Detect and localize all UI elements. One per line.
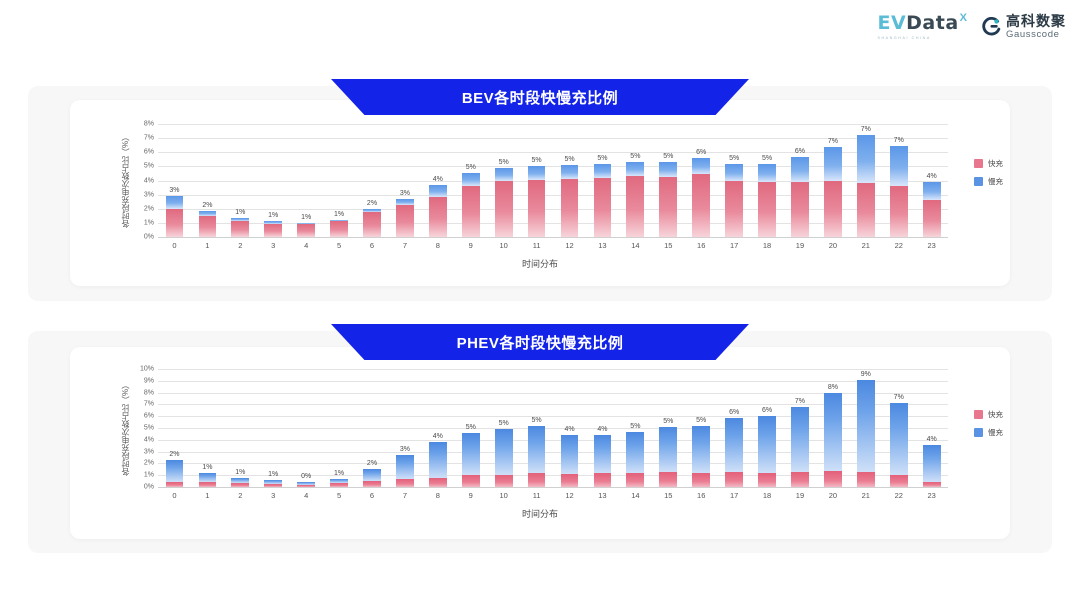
y-axis-tick: 7% [144,401,154,408]
x-axis-tick: 11 [520,241,553,250]
x-axis-tick: 23 [915,241,948,250]
x-axis-tick: 16 [685,241,718,250]
bar-data-label: 5% [696,417,706,424]
bar-segment-slow-charge [528,166,546,179]
bar-segment-slow-charge [758,416,776,473]
bar-segment-fast-charge [264,224,282,237]
bar-segment-fast-charge [495,181,513,237]
bar-data-label: 7% [861,126,871,133]
bar-segment-slow-charge [166,460,184,481]
y-axis-tick: 0% [144,484,154,491]
bar-data-label: 1% [202,464,212,471]
bar-column[interactable]: 8% [816,369,849,487]
bar-data-label: 5% [663,153,673,160]
stacked-bar[interactable]: 6% [758,416,776,487]
bar-column[interactable]: 1% [224,369,257,487]
x-axis-tick: 15 [652,491,685,500]
x-axis-tick: 1 [191,491,224,500]
bev-card: 各时段充电次数占比（%）0%1%2%3%4%5%6%7%8%3%2%1%1%1%… [70,100,1010,286]
x-axis-tick: 19 [784,241,817,250]
stacked-bar[interactable]: 7% [890,146,908,237]
stacked-bar[interactable]: 5% [495,168,513,237]
bar-column[interactable]: 4% [586,369,619,487]
x-axis-line [158,487,948,488]
x-axis-tick: 14 [619,241,652,250]
x-axis-tick: 18 [751,241,784,250]
bar-segment-slow-charge [890,146,908,186]
stacked-bar[interactable]: 6% [725,418,743,487]
bar-segment-fast-charge [396,479,414,487]
bar-segment-slow-charge [363,469,381,481]
stacked-bar[interactable]: 2% [363,209,381,237]
x-axis-tick: 16 [685,491,718,500]
bar-data-label: 1% [334,470,344,477]
y-axis-tick: 2% [144,205,154,212]
legend-item[interactable]: 慢充 [974,427,1003,438]
bar-column[interactable]: 5% [652,369,685,487]
bar-data-label: 7% [828,138,838,145]
bar-column[interactable]: 1% [290,124,323,237]
bar-column[interactable]: 3% [388,369,421,487]
stacked-bar[interactable]: 1% [231,218,249,237]
bar-segment-slow-charge [626,432,644,473]
bar-segment-fast-charge [429,478,447,487]
bar-column[interactable]: 1% [323,369,356,487]
x-axis-tick: 20 [816,491,849,500]
stacked-bar[interactable]: 7% [824,147,842,237]
legend-swatch [974,177,983,186]
bar-data-label: 6% [729,409,739,416]
bar-data-label: 6% [762,407,772,414]
bar-segment-fast-charge [166,209,184,237]
x-axis-tick: 1 [191,241,224,250]
stacked-bar[interactable]: 5% [659,162,677,237]
bar-segment-slow-charge [594,435,612,474]
x-axis-tick: 2 [224,491,257,500]
bar-segment-slow-charge [626,162,644,176]
x-axis-tick: 12 [553,491,586,500]
bar-data-label: 5% [729,155,739,162]
x-axis-tick: 21 [849,491,882,500]
legend-label: 慢充 [988,427,1003,438]
bar-data-label: 0% [301,473,311,480]
bar-segment-fast-charge [429,197,447,237]
stacked-bar[interactable]: 2% [166,460,184,487]
bar-segment-slow-charge [199,473,217,482]
stacked-bar[interactable]: 6% [692,158,710,237]
bar-column[interactable]: 3% [388,124,421,237]
bar-segment-slow-charge [692,426,710,473]
y-axis-tick: 3% [144,191,154,198]
stacked-bar[interactable]: 5% [758,164,776,237]
stacked-bar[interactable]: 4% [429,185,447,237]
bar-data-label: 8% [828,384,838,391]
bar-data-label: 5% [762,155,772,162]
bar-data-label: 2% [169,451,179,458]
bar-segment-fast-charge [758,473,776,487]
stacked-bar[interactable]: 5% [594,164,612,237]
bar-segment-fast-charge [561,474,579,487]
stacked-bar[interactable]: 1% [264,480,282,487]
bar-data-label: 4% [433,176,443,183]
bar-segment-fast-charge [626,473,644,487]
bar-column[interactable]: 2% [356,369,389,487]
stacked-bar[interactable]: 5% [725,164,743,237]
x-axis-tick: 12 [553,241,586,250]
bar-data-label: 5% [499,159,509,166]
bar-data-label: 1% [334,211,344,218]
bar-segment-fast-charge [857,183,875,237]
bar-column[interactable]: 7% [784,369,817,487]
bar-column[interactable]: 1% [323,124,356,237]
stacked-bar[interactable]: 4% [561,435,579,487]
x-axis-tick: 22 [882,241,915,250]
x-axis-tick: 10 [487,491,520,500]
x-axis-tick: 15 [652,241,685,250]
bar-segment-fast-charge [396,205,414,237]
bar-data-label: 5% [663,418,673,425]
bar-segment-slow-charge [857,380,875,472]
stacked-bar[interactable]: 4% [429,442,447,487]
bar-column[interactable]: 1% [224,124,257,237]
x-axis-tick: 6 [356,241,389,250]
bar-column[interactable]: 6% [685,124,718,237]
legend-label: 慢充 [988,176,1003,187]
x-axis-tick: 5 [323,491,356,500]
slide-page: EVData X SHANGHAI CHINA 高科数聚 Gausscode B… [0,0,1080,608]
stacked-bar[interactable]: 7% [890,403,908,487]
stacked-bar[interactable]: 4% [923,182,941,237]
bar-data-label: 5% [630,423,640,430]
bar-column[interactable]: 2% [158,369,191,487]
stacked-bar[interactable]: 1% [330,479,348,487]
stacked-bar[interactable]: 5% [626,162,644,237]
bev-banner: BEV各时段快慢充比例 [331,79,749,115]
bar-segment-fast-charge [626,176,644,237]
gausscode-logo-en: Gausscode [1006,30,1066,40]
x-axis-tick: 9 [454,241,487,250]
bar-column[interactable]: 7% [816,124,849,237]
bar-data-label: 1% [301,214,311,221]
bar-segment-fast-charge [330,221,348,237]
y-axis-tick: 5% [144,425,154,432]
bar-data-label: 2% [367,460,377,467]
bar-column[interactable]: 0% [290,369,323,487]
bar-segment-fast-charge [857,472,875,487]
y-axis-tick: 10% [140,366,154,373]
bar-data-label: 1% [235,209,245,216]
chart-phev-legend: 快充慢充 [974,409,1003,438]
bar-column[interactable]: 5% [454,369,487,487]
bar-data-label: 6% [696,149,706,156]
stacked-bar[interactable]: 9% [857,380,875,487]
bar-data-label: 5% [532,157,542,164]
x-axis-tick: 3 [257,491,290,500]
stacked-bar[interactable]: 5% [692,426,710,487]
bar-data-label: 5% [466,164,476,171]
bar-segment-slow-charge [923,182,941,200]
legend-swatch [974,159,983,168]
y-axis-tick: 1% [144,219,154,226]
legend-label: 快充 [988,158,1003,169]
bar-column[interactable]: 9% [849,369,882,487]
bar-column[interactable]: 5% [685,369,718,487]
bar-data-label: 4% [597,426,607,433]
x-axis-tick: 21 [849,241,882,250]
x-axis-tick: 23 [915,491,948,500]
stacked-bar[interactable]: 1% [297,223,315,237]
bar-segment-fast-charge [890,475,908,487]
bar-column[interactable]: 5% [553,124,586,237]
bar-segment-fast-charge [528,180,546,237]
bar-segment-fast-charge [659,177,677,237]
chart-phev-bar-group: 2%1%1%1%0%1%2%3%4%5%5%5%4%4%5%5%5%6%6%7%… [158,369,948,487]
y-axis-tick: 7% [144,135,154,142]
stacked-bar[interactable]: 5% [626,432,644,487]
x-axis-tick: 19 [784,491,817,500]
bar-segment-slow-charge [528,426,546,473]
bar-data-label: 4% [564,426,574,433]
phev-banner-title: PHEV各时段快慢充比例 [457,332,624,353]
x-axis-tick: 20 [816,241,849,250]
stacked-bar[interactable]: 1% [199,473,217,487]
x-axis-tick: 11 [520,491,553,500]
bar-segment-fast-charge [462,475,480,487]
y-axis-tick: 9% [144,377,154,384]
bar-data-label: 2% [202,202,212,209]
chart-phev-y-axis-label: 各时段充电次数占比（%） [120,369,131,487]
phev-banner: PHEV各时段快慢充比例 [331,324,749,360]
stacked-bar[interactable]: 1% [231,478,249,487]
bar-data-label: 5% [597,155,607,162]
bar-column[interactable]: 5% [487,124,520,237]
y-axis-tick: 5% [144,163,154,170]
bar-data-label: 3% [400,190,410,197]
bar-column[interactable]: 6% [784,124,817,237]
bar-column[interactable]: 2% [191,124,224,237]
x-axis-tick: 7 [388,491,421,500]
bar-segment-slow-charge [725,164,743,182]
stacked-bar[interactable]: 5% [659,427,677,487]
bar-segment-slow-charge [824,393,842,471]
bar-data-label: 6% [795,148,805,155]
bar-segment-fast-charge [692,174,710,237]
stacked-bar[interactable]: 3% [396,455,414,487]
x-axis-tick: 17 [718,491,751,500]
bar-data-label: 3% [169,187,179,194]
bar-segment-slow-charge [429,185,447,196]
y-axis-tick: 8% [144,121,154,128]
bar-segment-fast-charge [462,186,480,237]
chart-phev-x-axis: 01234567891011121314151617181920212223 [158,491,948,500]
bar-data-label: 7% [894,394,904,401]
bar-segment-fast-charge [297,224,315,237]
x-axis-tick: 4 [290,491,323,500]
bar-segment-fast-charge [561,179,579,237]
bev-chart: 各时段充电次数占比（%）0%1%2%3%4%5%6%7%8%3%2%1%1%1%… [70,100,1010,286]
x-axis-tick: 17 [718,241,751,250]
y-axis-tick: 4% [144,436,154,443]
stacked-bar[interactable]: 5% [462,433,480,487]
y-axis-tick: 8% [144,389,154,396]
bar-segment-slow-charge [462,173,480,186]
bar-data-label: 4% [927,173,937,180]
stacked-bar[interactable]: 1% [264,221,282,237]
bar-segment-slow-charge [923,445,941,482]
chart-bev-x-axis: 01234567891011121314151617181920212223 [158,241,948,250]
x-axis-tick: 13 [586,241,619,250]
gausscode-logo: 高科数聚 Gausscode [981,14,1066,40]
x-axis-tick: 6 [356,491,389,500]
stacked-bar[interactable]: 2% [199,211,217,237]
chart-bev-bar-group: 3%2%1%1%1%1%2%3%4%5%5%5%5%5%5%5%6%5%5%6%… [158,124,948,237]
bar-segment-slow-charge [791,157,809,182]
x-axis-tick: 14 [619,491,652,500]
bar-column[interactable]: 5% [454,124,487,237]
bar-segment-fast-charge [363,212,381,237]
bar-column[interactable]: 4% [421,124,454,237]
x-axis-tick: 7 [388,241,421,250]
bar-column[interactable]: 4% [915,124,948,237]
bar-segment-fast-charge [495,475,513,487]
bar-segment-slow-charge [890,403,908,475]
bar-column[interactable]: 6% [718,369,751,487]
bar-segment-slow-charge [561,165,579,179]
bar-segment-slow-charge [429,442,447,477]
chart-phev-plot-area: 0%1%2%3%4%5%6%7%8%9%10%2%1%1%1%0%1%2%3%4… [158,369,948,487]
bev-banner-title: BEV各时段快慢充比例 [462,87,618,108]
bar-data-label: 7% [795,398,805,405]
stacked-bar[interactable]: 3% [166,196,184,237]
phev-card: 各时段充电次数占比（%）0%1%2%3%4%5%6%7%8%9%10%2%1%1… [70,347,1010,539]
stacked-bar[interactable]: 7% [791,407,809,487]
bar-column[interactable]: 5% [586,124,619,237]
bar-column[interactable]: 4% [421,369,454,487]
bar-data-label: 1% [268,212,278,219]
gausscode-mark-icon [981,17,1001,37]
bar-segment-slow-charge [758,164,776,182]
bar-column[interactable]: 5% [718,124,751,237]
bar-column[interactable]: 5% [619,369,652,487]
stacked-bar[interactable]: 3% [396,199,414,237]
bar-segment-slow-charge [495,429,513,475]
stacked-bar[interactable]: 5% [462,173,480,237]
x-axis-tick: 0 [158,491,191,500]
stacked-bar[interactable]: 7% [857,135,875,237]
chart-bev-plot-area: 0%1%2%3%4%5%6%7%8%3%2%1%1%1%1%2%3%4%5%5%… [158,124,948,237]
stacked-bar[interactable]: 8% [824,393,842,487]
bar-data-label: 4% [433,433,443,440]
stacked-bar[interactable]: 5% [528,426,546,487]
bar-column[interactable]: 5% [652,124,685,237]
bar-segment-fast-charge [231,221,249,237]
bar-data-label: 2% [367,200,377,207]
bar-column[interactable]: 5% [520,369,553,487]
stacked-bar[interactable]: 5% [561,165,579,237]
bar-column[interactable]: 4% [915,369,948,487]
bar-segment-slow-charge [396,455,414,480]
bar-column[interactable]: 6% [751,369,784,487]
bar-column[interactable]: 5% [619,124,652,237]
bar-column[interactable]: 7% [849,124,882,237]
bar-segment-fast-charge [725,181,743,237]
bar-column[interactable]: 7% [882,124,915,237]
bar-column[interactable]: 1% [257,124,290,237]
stacked-bar[interactable]: 4% [923,445,941,487]
bar-column[interactable]: 5% [520,124,553,237]
chart-bev-y-axis-label: 各时段充电次数占比（%） [120,124,131,237]
bar-column[interactable]: 1% [191,369,224,487]
x-axis-tick: 10 [487,241,520,250]
gausscode-logo-cn: 高科数聚 [1006,14,1066,28]
legend-item[interactable]: 快充 [974,409,1003,420]
bar-data-label: 5% [466,424,476,431]
bar-segment-fast-charge [923,200,941,237]
bar-data-label: 5% [532,417,542,424]
legend-item[interactable]: 慢充 [974,176,1003,187]
stacked-bar[interactable]: 5% [528,166,546,237]
bar-column[interactable]: 4% [553,369,586,487]
x-axis-tick: 4 [290,241,323,250]
chart-bev-legend: 快充慢充 [974,158,1003,187]
chart-bev-x-axis-label: 时间分布 [70,257,1010,270]
y-axis-tick: 6% [144,413,154,420]
bar-data-label: 5% [630,153,640,160]
stacked-bar[interactable]: 5% [495,429,513,487]
bar-segment-slow-charge [725,418,743,472]
stacked-bar[interactable]: 4% [594,435,612,488]
bar-column[interactable]: 5% [487,369,520,487]
bar-data-label: 5% [499,420,509,427]
bar-column[interactable]: 3% [158,124,191,237]
bar-segment-slow-charge [857,135,875,182]
x-axis-tick: 8 [421,241,454,250]
y-axis-tick: 3% [144,448,154,455]
bar-segment-slow-charge [166,196,184,209]
phev-panel: 各时段充电次数占比（%）0%1%2%3%4%5%6%7%8%9%10%2%1%1… [28,331,1052,553]
bar-data-label: 7% [894,137,904,144]
bar-segment-slow-charge [692,158,710,174]
bar-column[interactable]: 5% [751,124,784,237]
stacked-bar[interactable]: 6% [791,157,809,237]
bar-segment-slow-charge [659,427,677,472]
x-axis-tick: 2 [224,241,257,250]
y-axis-tick: 1% [144,472,154,479]
bar-segment-fast-charge [890,186,908,237]
y-axis-tick: 6% [144,149,154,156]
y-axis-tick: 4% [144,177,154,184]
chart-phev-x-axis-label: 时间分布 [70,507,1010,520]
bar-column[interactable]: 7% [882,369,915,487]
evdata-logo: EVData X SHANGHAI CHINA [877,14,967,40]
x-axis-tick: 0 [158,241,191,250]
legend-item[interactable]: 快充 [974,158,1003,169]
bar-segment-slow-charge [561,435,579,474]
bar-segment-fast-charge [758,182,776,237]
x-axis-tick: 22 [882,491,915,500]
stacked-bar[interactable]: 1% [330,220,348,237]
bar-column[interactable]: 1% [257,369,290,487]
bev-panel: 各时段充电次数占比（%）0%1%2%3%4%5%6%7%8%3%2%1%1%1%… [28,86,1052,301]
stacked-bar[interactable]: 2% [363,469,381,487]
bar-data-label: 4% [927,436,937,443]
evdata-logo-text: EVData [877,14,958,33]
bar-column[interactable]: 2% [356,124,389,237]
evdata-logo-subtitle: SHANGHAI CHINA [877,36,930,40]
phev-chart: 各时段充电次数占比（%）0%1%2%3%4%5%6%7%8%9%10%2%1%1… [70,347,1010,539]
bar-segment-fast-charge [692,473,710,487]
bar-segment-fast-charge [725,472,743,487]
